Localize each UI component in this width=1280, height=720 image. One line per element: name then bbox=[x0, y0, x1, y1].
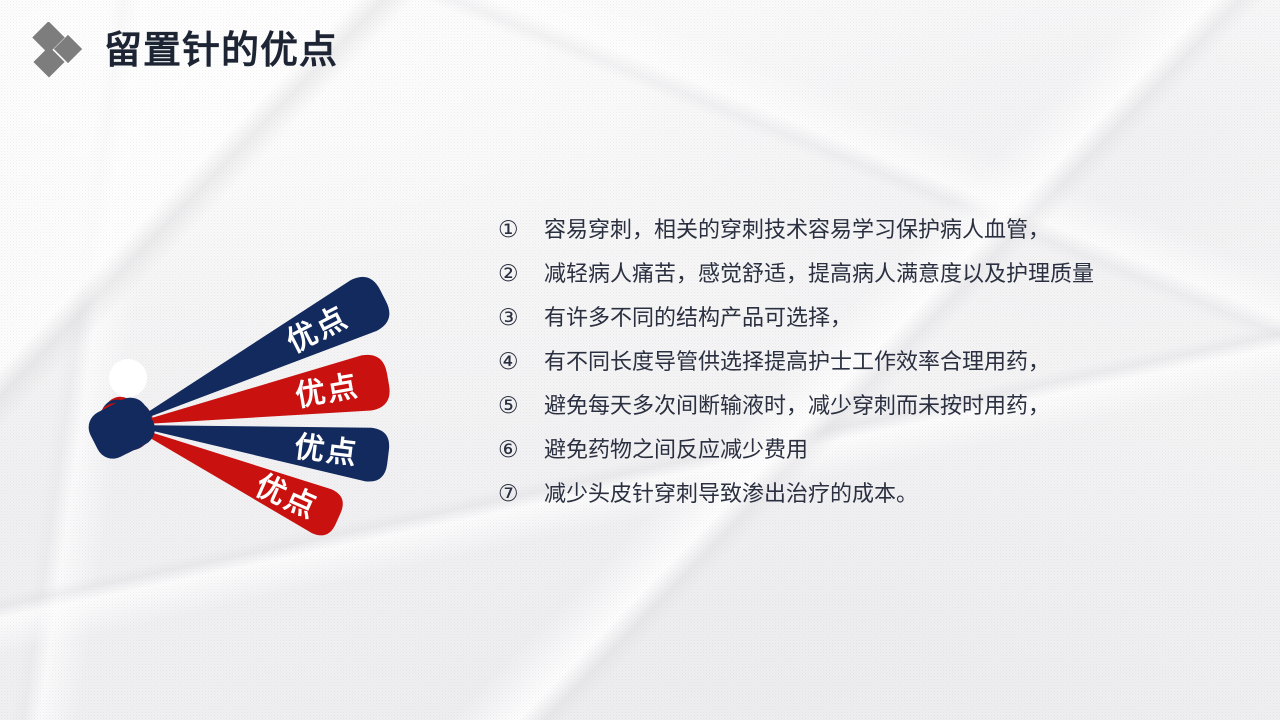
list-text: 有许多不同的结构产品可选择， bbox=[544, 303, 852, 333]
three-diamonds-icon bbox=[32, 22, 92, 78]
list-text: 容易穿刺，相关的穿刺技术容易学习保护病人血管， bbox=[544, 215, 1050, 245]
list-text: 减少头皮针穿刺导致渗出治疗的成本。 bbox=[544, 479, 918, 509]
list-marker: ① bbox=[498, 214, 544, 244]
list-text: 有不同长度导管供选择提高护士工作效率合理用药， bbox=[544, 347, 1050, 377]
list-marker: ② bbox=[498, 258, 544, 288]
fan-diagram: 优点 优点 优点 优点 bbox=[40, 170, 500, 600]
list-marker: ③ bbox=[498, 302, 544, 332]
list-item: ③ 有许多不同的结构产品可选择， bbox=[498, 302, 1258, 333]
list-item: ④ 有不同长度导管供选择提高护士工作效率合理用药， bbox=[498, 346, 1258, 377]
list-item: ⑥ 避免药物之间反应减少费用 bbox=[498, 434, 1258, 465]
list-item: ⑦ 减少头皮针穿刺导致渗出治疗的成本。 bbox=[498, 478, 1258, 509]
list-text: 减轻病人痛苦，感觉舒适，提高病人满意度以及护理质量 bbox=[544, 259, 1094, 289]
slide-canvas: 留置针的优点 bbox=[0, 0, 1280, 720]
list-item: ② 减轻病人痛苦，感觉舒适，提高病人满意度以及护理质量 bbox=[498, 258, 1258, 289]
list-text: 避免每天多次间断输液时，减少穿刺而未按时用药， bbox=[544, 391, 1050, 421]
list-marker: ⑤ bbox=[498, 390, 544, 420]
list-marker: ⑦ bbox=[498, 478, 544, 508]
list-text: 避免药物之间反应减少费用 bbox=[544, 435, 808, 465]
fan-pivot-hole bbox=[109, 359, 147, 397]
list-marker: ④ bbox=[498, 346, 544, 376]
list-item: ① 容易穿刺，相关的穿刺技术容易学习保护病人血管， bbox=[498, 214, 1258, 245]
advantages-list: ① 容易穿刺，相关的穿刺技术容易学习保护病人血管， ② 减轻病人痛苦，感觉舒适，… bbox=[498, 214, 1258, 522]
slide-header: 留置针的优点 bbox=[0, 0, 1280, 100]
list-marker: ⑥ bbox=[498, 434, 544, 464]
list-item: ⑤ 避免每天多次间断输液时，减少穿刺而未按时用药， bbox=[498, 390, 1258, 421]
page-title: 留置针的优点 bbox=[104, 24, 338, 78]
